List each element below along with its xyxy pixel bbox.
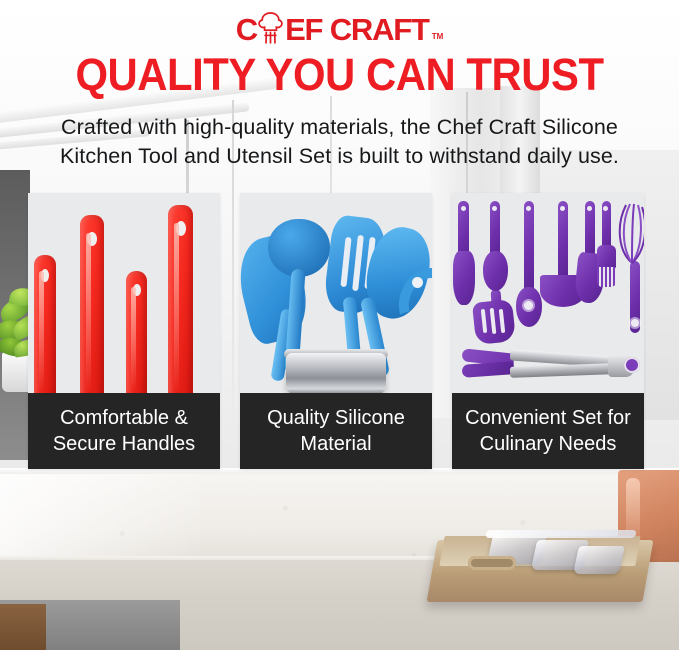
brand-logo: C EF CRAFT TM — [0, 8, 679, 48]
tongs-steel-arm-lower — [510, 363, 614, 378]
purple-brush-bristles — [597, 267, 616, 287]
feature-panel-convenient-set-for-culinary-needs: Convenient Set for Culinary Needs — [452, 193, 644, 469]
page-title: QUALITY YOU CAN TRUST — [24, 52, 655, 97]
panel-caption-line-1: Convenient Set for — [457, 405, 639, 431]
panel-caption-line-1: Comfortable & — [45, 405, 203, 431]
hang-hole — [587, 206, 592, 211]
logo-letter-c: C — [236, 14, 257, 45]
logo-wordmark: EF CRAFT — [285, 14, 429, 45]
subtitle-line-2: Kitchen Tool and Utensil Set is built to… — [0, 142, 679, 171]
red-handle — [34, 255, 56, 394]
hang-hole — [492, 206, 497, 211]
tongs-lock-ring — [624, 357, 640, 373]
trademark-symbol: TM — [432, 32, 444, 41]
chef-hat-icon — [258, 11, 283, 45]
tongs-grip-lower — [462, 361, 515, 378]
panel-caption-line-2: Culinary Needs — [457, 431, 639, 457]
subtitle-line-1: Crafted with high-quality materials, the… — [0, 113, 679, 142]
slotted-spoon-hole — [524, 301, 533, 310]
product-infographic: C EF CRAFT TM QUALITY YOU CAN TRUST Craf… — [0, 0, 679, 650]
wood-floor — [0, 604, 46, 650]
countertop-highlight — [0, 474, 200, 564]
hang-hole — [560, 206, 565, 211]
hang-hole — [526, 206, 531, 211]
red-handle — [80, 215, 104, 394]
glassware — [573, 546, 625, 574]
feature-panel-comfortable-secure-handles: Comfortable & Secure Handles — [28, 193, 220, 469]
hang-hole — [603, 206, 608, 211]
handle-highlight — [131, 287, 136, 391]
product-image-purple-set — [452, 193, 644, 394]
panel-caption: Convenient Set for Culinary Needs — [452, 393, 644, 469]
handle-highlight — [86, 233, 91, 393]
red-handle — [168, 205, 193, 394]
tray-handle — [468, 556, 516, 570]
red-handle — [126, 271, 147, 394]
hang-hole — [461, 206, 466, 211]
glassware-rim — [485, 530, 637, 538]
purple-spatula-head — [453, 251, 475, 305]
whisk-hang-hole — [631, 319, 639, 327]
panel-caption-line-2: Material — [259, 431, 413, 457]
panel-caption-line-1: Quality Silicone — [259, 405, 413, 431]
panel-caption: Comfortable & Secure Handles — [28, 393, 220, 469]
panel-caption-line-2: Secure Handles — [45, 431, 203, 457]
purple-spoon-head — [483, 251, 508, 291]
blue-utensil-hole — [412, 277, 423, 288]
panel-caption: Quality Silicone Material — [240, 393, 432, 469]
purple-ladle-handle — [558, 201, 568, 281]
subtitle: Crafted with high-quality materials, the… — [0, 113, 679, 172]
handle-highlight — [174, 223, 179, 393]
stainless-crock — [286, 353, 386, 394]
feature-panel-quality-silicone-material: Quality Silicone Material — [240, 193, 432, 469]
purple-slotted-spoon-handle — [524, 201, 534, 293]
product-image-blue-utensils — [240, 193, 432, 394]
product-image-red-handles — [28, 193, 220, 394]
handle-highlight — [39, 271, 44, 391]
